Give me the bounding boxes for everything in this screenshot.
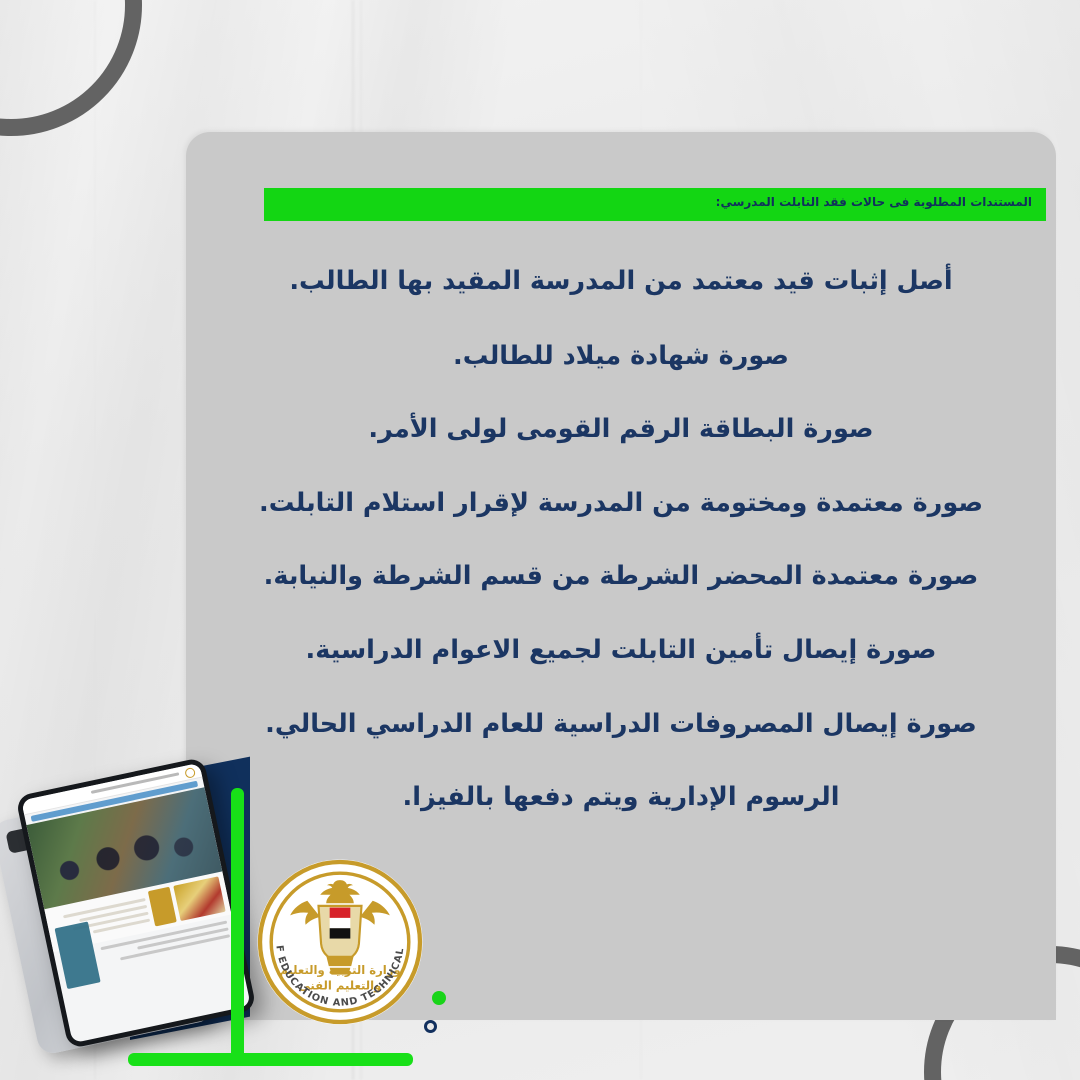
list-item: صورة إيصال تأمين التابلت لجميع الاعوام ا… (200, 635, 1042, 666)
list-item: صورة معتمدة ومختومة من المدرسة لإقرار اس… (200, 488, 1042, 519)
ministry-seal-logo: وزارة التربية والتعليم والتعليم الفنى MI… (254, 856, 426, 1028)
green-dot-icon (432, 991, 446, 1005)
screen-gold-block (148, 887, 177, 927)
page-title: المستندات المطلوبة فى حالات فقد التابلت … (278, 195, 1032, 210)
screen-text-line (63, 898, 146, 918)
list-item: أصل إثبات قيد معتمد من المدرسة المقيد به… (200, 266, 1042, 297)
screen-tabbar (31, 781, 199, 822)
green-corner-bracket-icon (128, 1053, 413, 1066)
seal-arabic-line-1: وزارة التربية والتعليم (279, 963, 400, 978)
requirements-list: أصل إثبات قيد معتمد من المدرسة المقيد به… (200, 266, 1042, 813)
screen-text-line (79, 905, 147, 922)
list-item: الرسوم الإدارية ويتم دفعها بالفيزا. (200, 782, 1042, 813)
headline-band: المستندات المطلوبة فى حالات فقد التابلت … (264, 188, 1046, 221)
list-item: صورة معتمدة المحضر الشرطة من قسم الشرطة … (200, 561, 1042, 592)
list-item: صورة البطاقة الرقم القومى لولى الأمر. (200, 414, 1042, 445)
tablet-device-icon (0, 786, 215, 1056)
screen-topbar (21, 763, 202, 816)
circle-outline-icon (0, 0, 142, 136)
screen-text-line (93, 919, 150, 934)
navy-ring-dot-icon (424, 1020, 437, 1033)
background-drape-line (94, 0, 96, 1080)
camera-icon (5, 827, 35, 854)
list-item: صورة شهادة ميلاد للطالب. (200, 341, 1042, 372)
screen-text-lines (50, 892, 151, 947)
screen-text-line (73, 912, 149, 931)
poster-canvas: المستندات المطلوبة فى حالات فقد التابلت … (0, 0, 1080, 1080)
screen-nav-placeholder (91, 772, 180, 794)
list-item: صورة إيصال المصروفات الدراسية للعام الدر… (200, 709, 1042, 740)
